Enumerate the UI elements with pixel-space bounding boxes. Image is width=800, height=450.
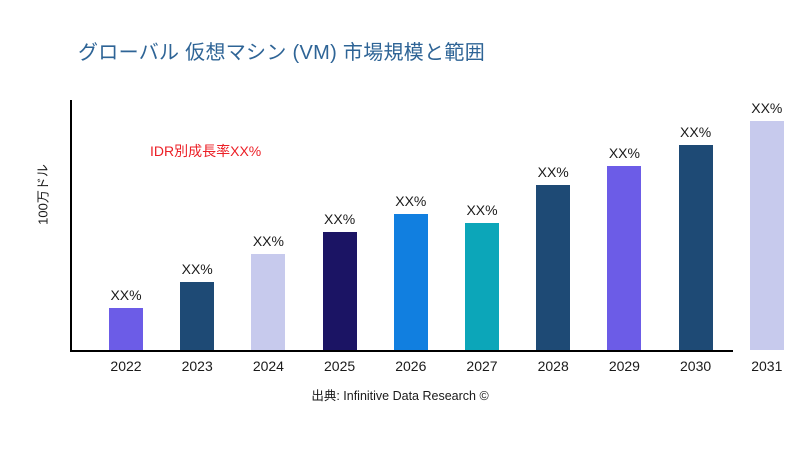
bar-rect-2031[interactable] — [750, 121, 784, 350]
bar-value-label-2029: XX% — [609, 145, 640, 161]
bar-2023[interactable]: XX% — [180, 282, 214, 350]
bar-value-label-2022: XX% — [110, 287, 141, 303]
bar-2031[interactable]: XX% — [750, 121, 784, 350]
x-tick-2025: 2025 — [310, 358, 370, 374]
x-tick-2031: 2031 — [737, 358, 797, 374]
growth-rate-annotation: IDR別成長率XX% — [150, 141, 261, 161]
bar-value-label-2031: XX% — [751, 100, 782, 116]
bar-value-label-2025: XX% — [324, 211, 355, 227]
x-tick-2027: 2027 — [452, 358, 512, 374]
chart-container: グローバル 仮想マシン (VM) 市場規模と範囲 100万ドル IDR別成長率X… — [0, 0, 800, 450]
bar-2028[interactable]: XX% — [536, 185, 570, 350]
plot-area: IDR別成長率XX% XX%XX%XX%XX%XX%XX%XX%XX%XX%XX… — [70, 100, 785, 352]
bar-rect-2023[interactable] — [180, 282, 214, 350]
bar-2027[interactable]: XX% — [465, 223, 499, 350]
x-tick-2023: 2023 — [167, 358, 227, 374]
bar-rect-2026[interactable] — [394, 214, 428, 350]
bar-rect-2027[interactable] — [465, 223, 499, 350]
bar-rect-2025[interactable] — [323, 232, 357, 350]
x-tick-2022: 2022 — [96, 358, 156, 374]
bar-2022[interactable]: XX% — [109, 308, 143, 350]
x-tick-2029: 2029 — [594, 358, 654, 374]
bar-2025[interactable]: XX% — [323, 232, 357, 350]
y-axis-line — [70, 100, 72, 352]
x-tick-2030: 2030 — [666, 358, 726, 374]
bar-value-label-2023: XX% — [182, 261, 213, 277]
bar-2024[interactable]: XX% — [251, 254, 285, 350]
source-note: 出典: Infinitive Data Research © — [0, 385, 800, 404]
bar-rect-2030[interactable] — [679, 145, 713, 350]
bar-rect-2029[interactable] — [607, 166, 641, 350]
bar-2026[interactable]: XX% — [394, 214, 428, 350]
bar-value-label-2030: XX% — [680, 124, 711, 140]
x-tick-2024: 2024 — [238, 358, 298, 374]
x-axis-line — [70, 350, 733, 352]
bar-2029[interactable]: XX% — [607, 166, 641, 350]
bar-value-label-2028: XX% — [538, 164, 569, 180]
chart-title: グローバル 仮想マシン (VM) 市場規模と範囲 — [78, 36, 485, 65]
bar-value-label-2024: XX% — [253, 233, 284, 249]
bar-rect-2024[interactable] — [251, 254, 285, 350]
x-tick-2026: 2026 — [381, 358, 441, 374]
bar-rect-2028[interactable] — [536, 185, 570, 350]
y-axis-label: 100万ドル — [33, 140, 52, 250]
bar-2030[interactable]: XX% — [679, 145, 713, 350]
bar-value-label-2027: XX% — [466, 202, 497, 218]
bar-rect-2022[interactable] — [109, 308, 143, 350]
bar-value-label-2026: XX% — [395, 193, 426, 209]
x-tick-2028: 2028 — [523, 358, 583, 374]
